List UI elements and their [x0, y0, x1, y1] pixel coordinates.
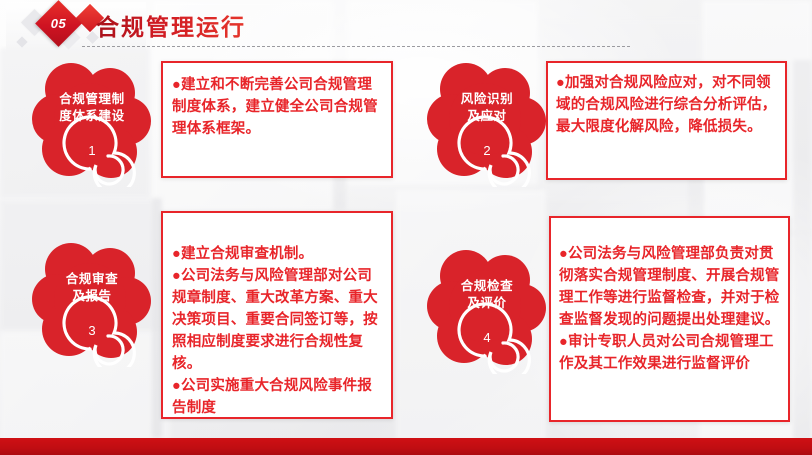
- content-card-1[interactable]: ●建立和不断完善公司合规管理制度体系，建立健全公司合规管理体系框架。: [161, 61, 393, 178]
- page-title: 合规管理运行: [96, 8, 246, 42]
- step-badge-1[interactable]: 合规管理制 度体系建设 1: [27, 57, 157, 187]
- slide-canvas: 05 合规管理运行 ●建立和不断完善公司合规管理制度体系，建立健全公司合规管理体…: [0, 0, 812, 455]
- step-badge-4[interactable]: 合规检查 及评价 4: [422, 244, 552, 374]
- content-card-4[interactable]: ●公司法务与风险管理部负责对贯彻落实合规管理制度、开展合规管理工作等进行监督检查…: [549, 216, 790, 422]
- cloud-badge-icon: [422, 244, 552, 374]
- content-card-3[interactable]: ●建立合规审查机制。 ●公司法务与风险管理部对公司规章制度、重大改革方案、重大决…: [161, 211, 393, 419]
- content-card-2[interactable]: ●加强对合规风险应对，对不同领域的合规风险进行综合分析评估，最大限度化解风险，降…: [546, 61, 787, 180]
- footer-bar: [0, 438, 812, 455]
- card-body-text: ●建立合规审查机制。 ●公司法务与风险管理部对公司规章制度、重大改革方案、重大决…: [163, 213, 391, 419]
- card-body-text: ●建立和不断完善公司合规管理制度体系，建立健全公司合规管理体系框架。: [163, 63, 391, 140]
- cloud-badge-icon: [27, 237, 157, 367]
- card-body-text: ●加强对合规风险应对，对不同领域的合规风险进行综合分析评估，最大限度化解风险，降…: [548, 63, 785, 138]
- card-body-text: ●公司法务与风险管理部负责对贯彻落实合规管理制度、开展合规管理工作等进行监督检查…: [551, 218, 788, 375]
- cloud-badge-icon: [422, 57, 552, 187]
- section-number: 05: [42, 7, 75, 40]
- bg-block: [793, 60, 812, 440]
- step-badge-2[interactable]: 风险识别 及应对 2: [422, 57, 552, 187]
- slide-header: 05 合规管理运行: [0, 0, 812, 56]
- header-divider: [82, 46, 630, 47]
- cloud-badge-icon: [27, 57, 157, 187]
- step-badge-3[interactable]: 合规审查 及报告 3: [27, 237, 157, 367]
